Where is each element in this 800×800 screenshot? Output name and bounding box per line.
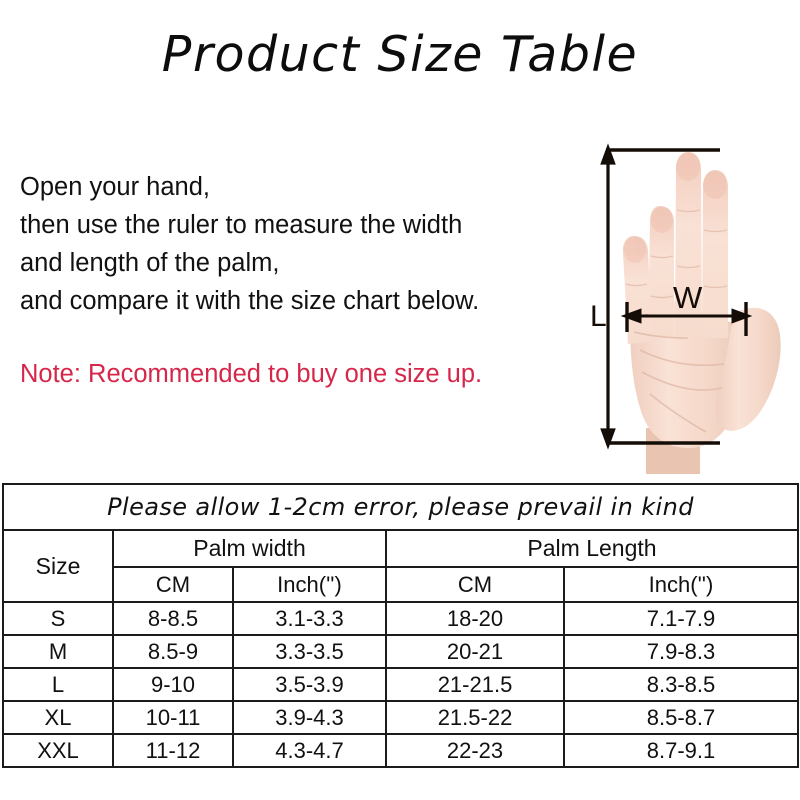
instruction-line: Open your hand, [20,168,580,206]
table-disclaimer: Please allow 1-2cm error, please prevail… [3,484,798,530]
cell-width-inch: 3.5-3.9 [233,668,386,701]
cell-length-inch: 8.7-9.1 [564,734,798,767]
size-chart-table: Please allow 1-2cm error, please prevail… [2,483,799,768]
cell-width-inch: 4.3-4.7 [233,734,386,767]
table-disclaimer-row: Please allow 1-2cm error, please prevail… [3,484,798,530]
table-row: XL 10-11 3.9-4.3 21.5-22 8.5-8.7 [3,701,798,734]
table-row: L 9-10 3.5-3.9 21-21.5 8.3-8.5 [3,668,798,701]
cell-length-cm: 22-23 [386,734,564,767]
header-palm-width: Palm width [113,530,386,567]
instruction-line: and compare it with the size chart below… [20,282,580,320]
cell-length-cm: 20-21 [386,635,564,668]
cell-width-cm: 10-11 [113,701,233,734]
header-width-inch: Inch('') [233,567,386,602]
cell-width-inch: 3.1-3.3 [233,602,386,635]
width-label: W [673,280,703,315]
cell-length-cm: 21-21.5 [386,668,564,701]
table-group-header-row: Size Palm width Palm Length [3,530,798,567]
cell-size: L [3,668,113,701]
table-row: XXL 11-12 4.3-4.7 22-23 8.7-9.1 [3,734,798,767]
cell-width-cm: 11-12 [113,734,233,767]
cell-width-inch: 3.9-4.3 [233,701,386,734]
cell-width-cm: 8.5-9 [113,635,233,668]
table-row: M 8.5-9 3.3-3.5 20-21 7.9-8.3 [3,635,798,668]
header-size: Size [3,530,113,602]
header-width-cm: CM [113,567,233,602]
cell-size: XXL [3,734,113,767]
length-label: L [590,300,607,333]
cell-length-inch: 8.3-8.5 [564,668,798,701]
cell-length-cm: 18-20 [386,602,564,635]
cell-length-inch: 8.5-8.7 [564,701,798,734]
instruction-line: then use the ruler to measure the width [20,206,580,244]
cell-size: M [3,635,113,668]
table-row: S 8-8.5 3.1-3.3 18-20 7.1-7.9 [3,602,798,635]
cell-width-cm: 9-10 [113,668,233,701]
cell-size: XL [3,701,113,734]
note-text: Note: Recommended to buy one size up. [20,357,482,391]
cell-length-cm: 21.5-22 [386,701,564,734]
table-unit-header-row: CM Inch('') CM Inch('') [3,567,798,602]
cell-size: S [3,602,113,635]
cell-width-inch: 3.3-3.5 [233,635,386,668]
cell-length-inch: 7.1-7.9 [564,602,798,635]
cell-width-cm: 8-8.5 [113,602,233,635]
instructions-block: Open your hand, then use the ruler to me… [20,168,580,320]
header-palm-length: Palm Length [386,530,798,567]
hand-measurement-diagram: L W [588,136,800,481]
header-length-inch: Inch('') [564,567,798,602]
cell-length-inch: 7.9-8.3 [564,635,798,668]
header-length-cm: CM [386,567,564,602]
page-title: Product Size Table [0,26,800,83]
instruction-line: and length of the palm, [20,244,580,282]
